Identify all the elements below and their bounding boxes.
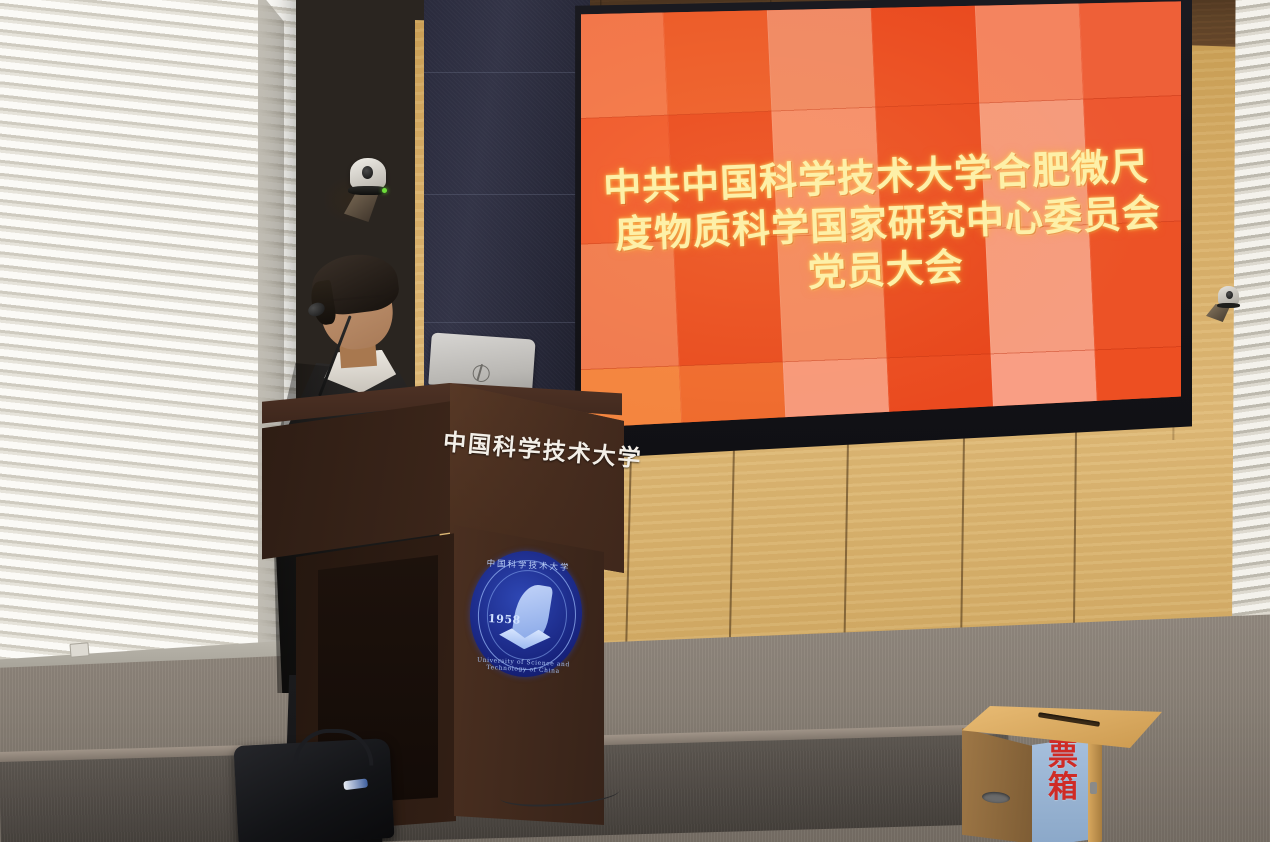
ballot-box-side-panel (962, 728, 1034, 842)
conference-hall-photo: 中共中国科学技术大学合肥微尺 度物质科学国家研究中心委员会 党员大会 (0, 0, 1270, 842)
backpack (233, 738, 394, 842)
led-tile (870, 0, 980, 108)
led-tile (1077, 0, 1181, 100)
ballot-box-label: 票箱 (1036, 740, 1090, 803)
emblem-founding-year: 1958 (485, 612, 524, 627)
backpack-tag (343, 778, 368, 790)
led-tile (673, 237, 783, 366)
led-tile (662, 0, 772, 116)
panel-seam (424, 322, 590, 323)
led-tile (979, 100, 1089, 229)
led-tile (777, 233, 887, 362)
led-tile (1089, 221, 1181, 350)
lectern-left-face (262, 401, 452, 561)
camera-lens-icon (362, 166, 373, 179)
led-tile-grid (581, 0, 1181, 448)
led-tile (581, 241, 679, 370)
led-tile (667, 112, 777, 241)
power-outlet[interactable] (69, 642, 89, 658)
led-tile (881, 229, 991, 358)
led-tile (875, 104, 985, 233)
led-video-wall[interactable]: 中共中国科学技术大学合肥微尺 度物质科学国家研究中心委员会 党员大会 (581, 0, 1181, 448)
ribbed-acoustic-wall-right (1232, 0, 1270, 690)
led-tile (974, 0, 1084, 104)
led-tile (771, 108, 881, 237)
ptz-camera-right[interactable] (1206, 286, 1240, 326)
led-tile (581, 116, 673, 245)
panel-seam (424, 72, 590, 73)
led-tile (581, 0, 667, 120)
ballot-box[interactable]: 票箱 (962, 706, 1162, 842)
led-tile (766, 0, 876, 112)
camera-lens-icon (1226, 291, 1233, 299)
ptz-camera-left[interactable] (338, 158, 390, 224)
panel-seam (424, 194, 590, 195)
led-tile (985, 225, 1095, 354)
camera-base-ring (1217, 303, 1240, 308)
led-tile (1083, 96, 1181, 225)
ustc-emblem: 中国科学技术大学 1958 University of Science and … (467, 548, 585, 680)
ballot-box-lock-icon (1090, 782, 1097, 794)
camera-status-led (382, 188, 387, 193)
